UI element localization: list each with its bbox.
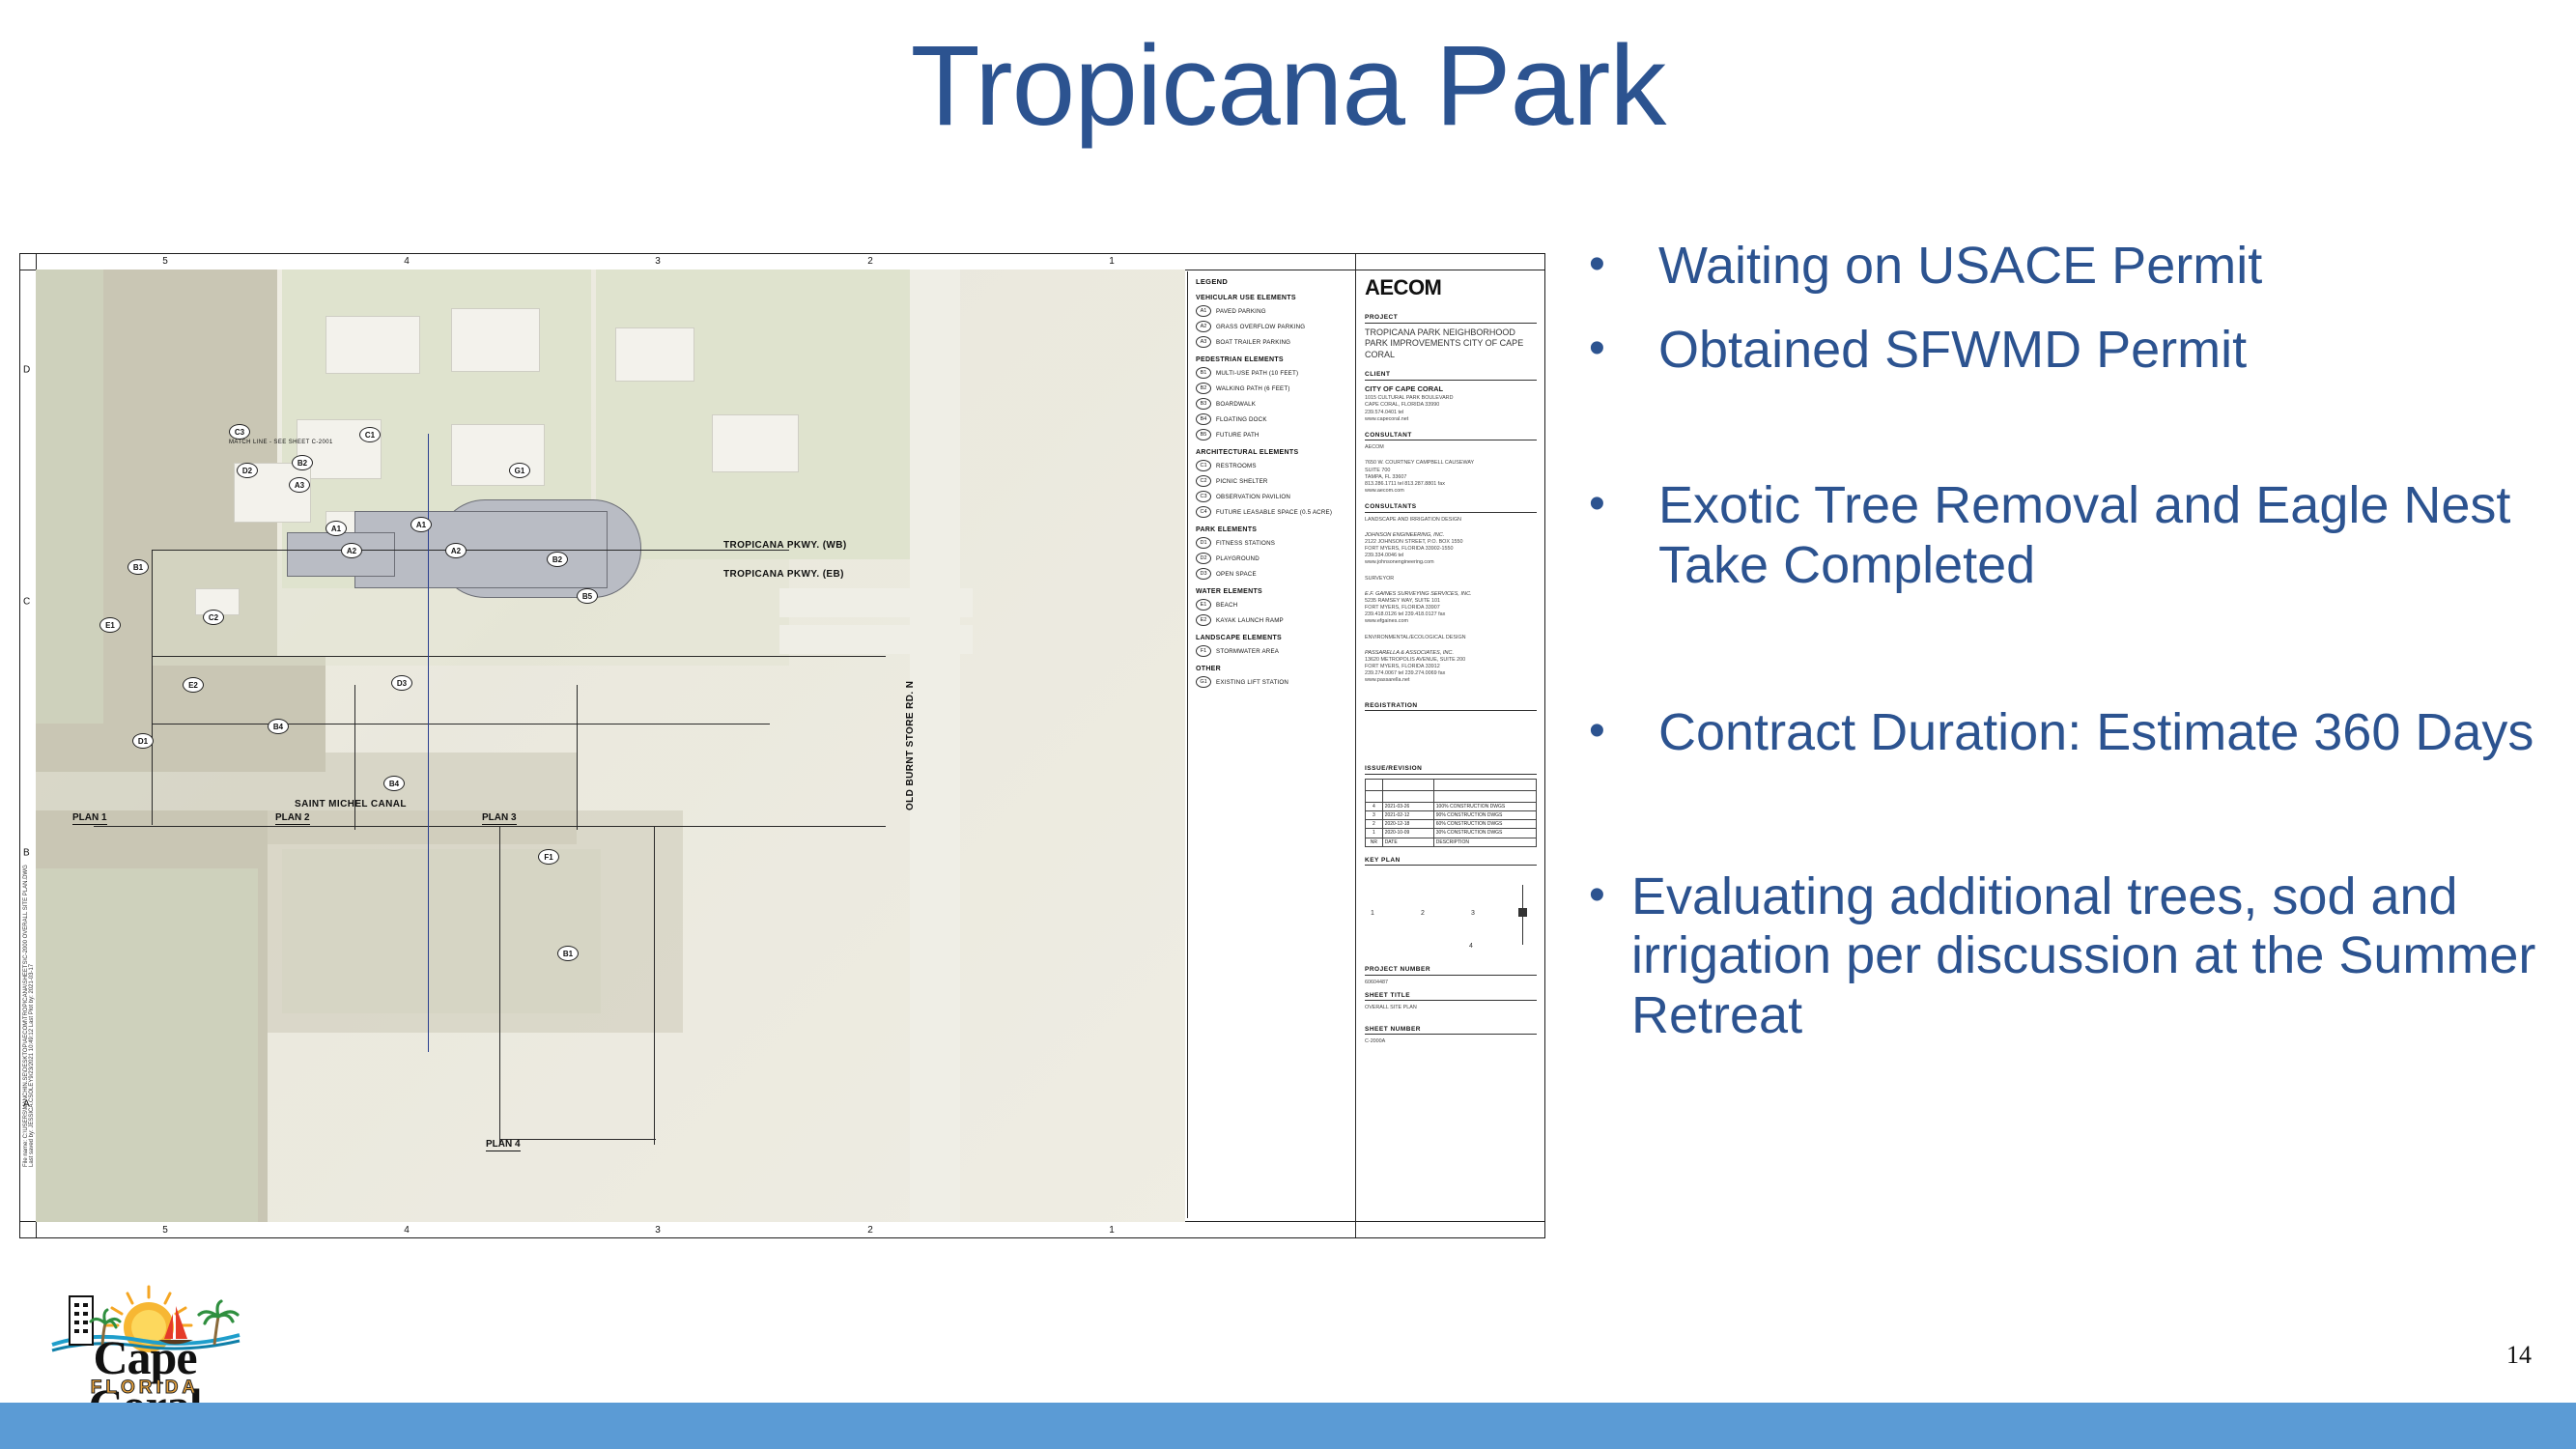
plan-callout: D3 (391, 675, 412, 691)
issue-nr: 2 (1366, 820, 1383, 829)
legend-item: B5FUTURE PATH (1196, 429, 1351, 440)
bullet-marker-icon: • (1589, 476, 1658, 532)
legend-section-title: VEHICULAR USE ELEMENTS (1196, 295, 1351, 301)
edge-tick: 3 (655, 1225, 661, 1236)
registration-header: REGISTRATION (1365, 702, 1537, 712)
edge-tick: 1 (1109, 256, 1115, 267)
edge-tick: 4 (404, 1225, 410, 1236)
bullet-list: • Waiting on USACE Permit • Obtained SFW… (1589, 237, 2555, 1045)
sheet-title: OVERALL SITE PLAN (1365, 1005, 1537, 1011)
legend-heading: LEGEND (1196, 277, 1351, 286)
plan-callout: F1 (538, 849, 559, 865)
legend-tag-bubble: C2 (1196, 475, 1211, 487)
plan-callout: C2 (203, 610, 224, 625)
list-item: • Obtained SFWMD Permit (1589, 321, 2555, 381)
legend-item-label: GRASS OVERFLOW PARKING (1216, 324, 1305, 330)
legend-item-label: MULTI-USE PATH (10 FEET) (1216, 370, 1298, 377)
issue-nr: 4 (1366, 802, 1383, 810)
plan-tag-2: PLAN 2 (275, 812, 310, 825)
plan-callout: A1 (326, 521, 347, 536)
map-match-line-note: MATCH LINE - SEE SHEET C-2001 (229, 440, 333, 445)
issue-desc: 90% CONSTRUCTION DWGS (1433, 810, 1536, 819)
legend-section-title: PEDESTRIAN ELEMENTS (1196, 356, 1351, 363)
project-name: TROPICANA PARK NEIGHBORHOOD PARK IMPROVE… (1365, 327, 1537, 361)
consultant-name: AECOM (1365, 444, 1537, 451)
legend-tag-bubble: A3 (1196, 336, 1211, 348)
edge-tick: 5 (162, 1225, 168, 1236)
legend-item: C3OBSERVATION PAVILION (1196, 491, 1351, 502)
legend-item: C4FUTURE LEASABLE SPACE (0.5 ACRE) (1196, 506, 1351, 518)
map-label-tropicana-wb: TROPICANA PKWY. (WB) (723, 540, 847, 551)
legend-item-label: BOAT TRAILER PARKING (1216, 339, 1290, 346)
bullet-marker-icon: • (1589, 867, 1631, 923)
client-header: CLIENT (1365, 371, 1537, 381)
table-row: 32021-02-1290% CONSTRUCTION DWGS (1366, 810, 1537, 819)
plan-tag-3: PLAN 3 (482, 812, 517, 825)
drawing-margin-note: Last saved by: JESSICA.CSOLEY9/23/2021 1… (29, 964, 35, 1167)
legend-item: C2PICNIC SHELTER (1196, 475, 1351, 487)
consultant-role: ENVIRONMENTAL/ECOLOGICAL DESIGN (1365, 635, 1537, 641)
plan-callout: E1 (99, 617, 121, 633)
consultant-address: 7650 W. COURTNEY CAMPBELL CAUSEWAY SUITE… (1365, 460, 1537, 495)
bullet-text: Contract Duration: Estimate 360 Days (1658, 703, 2555, 763)
legend-item: B3BOARDWALK (1196, 398, 1351, 410)
consultant-role: SURVEYOR (1365, 576, 1537, 582)
bullet-text: Exotic Tree Removal and Eagle Nest Take … (1658, 476, 2555, 595)
issue-col-desc: DESCRIPTION (1433, 838, 1536, 846)
legend-tag-bubble: C3 (1196, 491, 1211, 502)
plan-tag-4: PLAN 4 (486, 1139, 521, 1151)
legend-item: D1FITNESS STATIONS (1196, 537, 1351, 549)
legend-tag-bubble: A1 (1196, 305, 1211, 317)
legend-item-label: FLOATING DOCK (1216, 416, 1267, 423)
legend-tag-bubble: F1 (1196, 645, 1211, 657)
plan-callout: B4 (383, 776, 405, 791)
issue-col-nr: NR (1366, 838, 1383, 846)
legend-tag-bubble: E1 (1196, 599, 1211, 611)
consultant-role: LANDSCAPE AND IRRIGATION DESIGN (1365, 517, 1537, 524)
issue-revision-header: ISSUE/REVISION (1365, 765, 1537, 775)
legend-item-label: RESTROOMS (1216, 463, 1257, 469)
issue-col-date: DATE (1382, 838, 1433, 846)
legend-item-label: OBSERVATION PAVILION (1216, 494, 1290, 500)
legend-tag-bubble: D1 (1196, 537, 1211, 549)
issue-date: 2020-12-18 (1382, 820, 1433, 829)
aecom-logo: AECOM (1365, 275, 1537, 300)
issue-date: 2020-10-09 (1382, 829, 1433, 838)
consultant-address: 2122 JOHNSON STREET, P.O. BOX 1550 FORT … (1365, 539, 1537, 567)
legend-section-title: OTHER (1196, 666, 1351, 672)
legend-item-label: KAYAK LAUNCH RAMP (1216, 617, 1284, 624)
legend-tag-bubble: G1 (1196, 676, 1211, 688)
cape-coral-logo: Cape Coral FLORIDA (35, 1285, 255, 1403)
legend-item: F1STORMWATER AREA (1196, 645, 1351, 657)
project-header: PROJECT (1365, 314, 1537, 324)
keyplan-number: 4 (1469, 943, 1473, 950)
legend-tag-bubble: B2 (1196, 383, 1211, 394)
edge-tick: 3 (655, 256, 661, 267)
keyplan-number: 3 (1471, 910, 1475, 917)
legend-section-title: ARCHITECTURAL ELEMENTS (1196, 449, 1351, 456)
list-item: • Waiting on USACE Permit (1589, 237, 2555, 297)
edge-tick: 4 (404, 256, 410, 267)
legend-tag-bubble: E2 (1196, 614, 1211, 626)
edge-tick: 1 (1109, 1225, 1115, 1236)
plan-callout: D1 (132, 733, 154, 749)
client-address: 1015 CULTURAL PARK BOULEVARD CAPE CORAL,… (1365, 395, 1537, 423)
consultant-header: CONSULTANT (1365, 432, 1537, 441)
sheet-edge-top: 5 4 3 2 1 (20, 254, 1544, 270)
plan-legend: LEGEND VEHICULAR USE ELEMENTS A1PAVED PA… (1187, 271, 1351, 1218)
edge-tick: 5 (162, 256, 168, 267)
legend-tag-bubble: C1 (1196, 460, 1211, 471)
legend-item-label: FUTURE LEASABLE SPACE (0.5 ACRE) (1216, 509, 1332, 516)
table-row (1366, 779, 1537, 790)
site-plan-drawing: 5 4 3 2 1 5 4 3 2 1 D C B A Last saved b… (19, 253, 1545, 1238)
issue-date: 2021-02-12 (1382, 810, 1433, 819)
list-item: • Evaluating additional trees, sod and i… (1589, 867, 2555, 1046)
map-label-old-burnt-store-rd: OLD BURNT STORE RD. N (905, 681, 916, 810)
north-arrow-marker-icon (1518, 908, 1527, 917)
legend-section-title: LANDSCAPE ELEMENTS (1196, 635, 1351, 641)
aerial-site-plan-graphic: D2 A1 A1 A2 A2 A3 B2 B2 C2 G1 B5 D3 E2 B… (36, 270, 1185, 1222)
plan-callout: B5 (577, 588, 598, 604)
sheet-edge-bottom: 5 4 3 2 1 (20, 1221, 1544, 1237)
key-plan-header: KEY PLAN (1365, 857, 1537, 867)
legend-item-label: PLAYGROUND (1216, 555, 1260, 562)
edge-row-letter: B (23, 848, 30, 859)
sheet-number: C-2000A (1365, 1038, 1537, 1045)
legend-item-label: FUTURE PATH (1216, 432, 1260, 439)
legend-item: D3OPEN SPACE (1196, 568, 1351, 580)
keyplan-number: 2 (1421, 910, 1425, 917)
legend-item: C1RESTROOMS (1196, 460, 1351, 471)
bullet-text: Evaluating additional trees, sod and irr… (1631, 867, 2555, 1046)
table-header-row: NRDATEDESCRIPTION (1366, 838, 1537, 846)
issue-desc: 30% CONSTRUCTION DWGS (1433, 829, 1536, 838)
legend-item: B1MULTI-USE PATH (10 FEET) (1196, 367, 1351, 379)
legend-item-label: PICNIC SHELTER (1216, 478, 1268, 485)
legend-item-label: PAVED PARKING (1216, 308, 1266, 315)
legend-tag-bubble: B5 (1196, 429, 1211, 440)
consultant-firm: JOHNSON ENGINEERING, INC. (1365, 532, 1537, 539)
logo-state-name: FLORIDA (39, 1378, 251, 1399)
plan-callout: C1 (359, 427, 381, 442)
project-number-header: PROJECT NUMBER (1365, 966, 1537, 976)
page-title: Tropicana Park (0, 27, 2576, 147)
plan-callout: D2 (237, 463, 258, 478)
plan-callout: G1 (509, 463, 530, 478)
project-number: 60604487 (1365, 980, 1537, 986)
legend-tag-bubble: C4 (1196, 506, 1211, 518)
issue-desc: 100% CONSTRUCTION DWGS (1433, 802, 1536, 810)
legend-tag-bubble: A2 (1196, 321, 1211, 332)
legend-item: E2KAYAK LAUNCH RAMP (1196, 614, 1351, 626)
legend-item-label: EXISTING LIFT STATION (1216, 679, 1288, 686)
legend-tag-bubble: D2 (1196, 553, 1211, 564)
legend-item: E1BEACH (1196, 599, 1351, 611)
plan-tag-1: PLAN 1 (72, 812, 107, 825)
plan-callout: B2 (292, 455, 313, 470)
list-item: • Contract Duration: Estimate 360 Days (1589, 703, 2555, 763)
consultant-address: 13620 METROPOLIS AVENUE, SUITE 200 FORT … (1365, 657, 1537, 685)
edge-row-letter: C (23, 597, 30, 608)
legend-item: B4FLOATING DOCK (1196, 413, 1351, 425)
plan-callout: A2 (445, 543, 467, 558)
consultant-firm: E.F. GAINES SURVEYING SERVICES, INC. (1365, 591, 1537, 598)
table-row: 12020-10-0930% CONSTRUCTION DWGS (1366, 829, 1537, 838)
client-name: CITY OF CAPE CORAL (1365, 384, 1537, 394)
plan-callout: B1 (557, 946, 579, 961)
sheet-number-header: SHEET NUMBER (1365, 1026, 1537, 1036)
drawing-margin-note-file: File name: C:\USERS\MANCHIN.SE\DESKTOP\A… (23, 865, 29, 1167)
plan-callout: A2 (341, 543, 362, 558)
issue-revision-table: 42021-03-26100% CONSTRUCTION DWGS 32021-… (1365, 779, 1537, 847)
plan-callout: A3 (289, 477, 310, 493)
consultant-address: 5235 RAMSEY WAY, SUITE 101 FORT MYERS, F… (1365, 598, 1537, 626)
bullet-text: Obtained SFWMD Permit (1658, 321, 2555, 381)
legend-tag-bubble: B4 (1196, 413, 1211, 425)
list-item: • Exotic Tree Removal and Eagle Nest Tak… (1589, 476, 2555, 595)
consultants-header: CONSULTANTS (1365, 503, 1537, 513)
plan-callout: B1 (127, 559, 149, 575)
sheet-title-header: SHEET TITLE (1365, 992, 1537, 1002)
bullet-text: Waiting on USACE Permit (1658, 237, 2555, 297)
issue-nr: 1 (1366, 829, 1383, 838)
legend-item: A1PAVED PARKING (1196, 305, 1351, 317)
legend-item-label: BEACH (1216, 602, 1237, 609)
legend-tag-bubble: B1 (1196, 367, 1211, 379)
legend-tag-bubble: B3 (1196, 398, 1211, 410)
legend-item-label: WALKING PATH (6 FEET) (1216, 385, 1290, 392)
map-label-saint-michel-canal: SAINT MICHEL CANAL (295, 799, 407, 810)
drawing-title-block: AECOM PROJECT TROPICANA PARK NEIGHBORHOO… (1355, 254, 1544, 1237)
plan-callout: B2 (547, 552, 568, 567)
keyplan-number: 1 (1371, 910, 1374, 917)
issue-desc: 60% CONSTRUCTION DWGS (1433, 820, 1536, 829)
bullet-marker-icon: • (1589, 703, 1658, 759)
legend-item-label: FITNESS STATIONS (1216, 540, 1275, 547)
footer-bar (0, 1403, 2576, 1449)
edge-row-letter: D (23, 365, 30, 376)
legend-item-label: BOARDWALK (1216, 401, 1256, 408)
plan-callout: C3 (229, 424, 250, 440)
key-plan-diagram: 1 2 3 4 (1365, 869, 1537, 962)
plan-callout: B4 (268, 719, 289, 734)
issue-date: 2021-03-26 (1382, 802, 1433, 810)
issue-nr: 3 (1366, 810, 1383, 819)
legend-item: A2GRASS OVERFLOW PARKING (1196, 321, 1351, 332)
table-row: 22020-12-1860% CONSTRUCTION DWGS (1366, 820, 1537, 829)
legend-item: G1EXISTING LIFT STATION (1196, 676, 1351, 688)
legend-section-title: WATER ELEMENTS (1196, 588, 1351, 595)
table-row: 42021-03-26100% CONSTRUCTION DWGS (1366, 802, 1537, 810)
map-label-tropicana-eb: TROPICANA PKWY. (EB) (723, 569, 844, 580)
legend-item: D2PLAYGROUND (1196, 553, 1351, 564)
bullet-marker-icon: • (1589, 237, 1658, 293)
legend-item-label: OPEN SPACE (1216, 571, 1257, 578)
legend-item: B2WALKING PATH (6 FEET) (1196, 383, 1351, 394)
legend-item-label: STORMWATER AREA (1216, 648, 1279, 655)
table-row (1366, 790, 1537, 802)
edge-tick: 2 (867, 1225, 873, 1236)
edge-tick: 2 (867, 256, 873, 267)
bullet-marker-icon: • (1589, 321, 1658, 377)
legend-section-title: PARK ELEMENTS (1196, 526, 1351, 533)
plan-callout: A1 (410, 517, 432, 532)
legend-tag-bubble: D3 (1196, 568, 1211, 580)
legend-item: A3BOAT TRAILER PARKING (1196, 336, 1351, 348)
consultant-firm: PASSARELLA & ASSOCIATES, INC. (1365, 650, 1537, 657)
page-number: 14 (2506, 1341, 2532, 1370)
plan-callout: E2 (183, 677, 204, 693)
